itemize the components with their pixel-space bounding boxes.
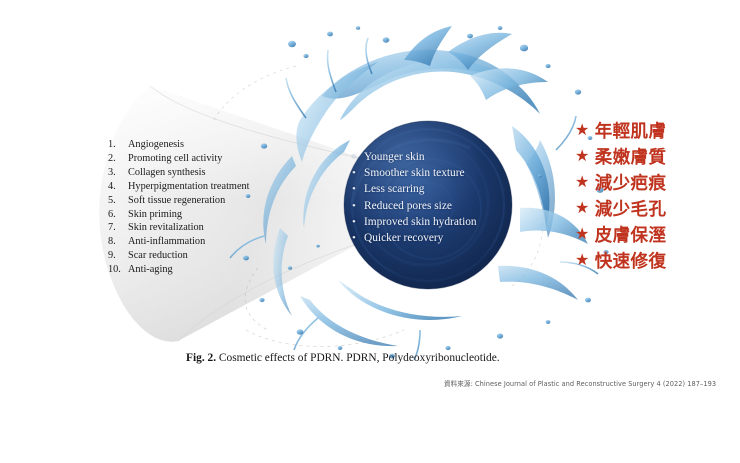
circle-benefits-list: • Younger skin • Smoother skin texture •… xyxy=(352,149,512,246)
list-item-label: 皮膚保溼 xyxy=(595,222,667,247)
list-item-number: 6. xyxy=(108,208,128,222)
list-item-label: 快速修復 xyxy=(595,248,667,273)
list-item-label: 年輕肌膚 xyxy=(595,118,667,143)
list-item-label: Anti-inflammation xyxy=(128,235,205,249)
list-item: ★ 減少疤痕 xyxy=(575,169,666,195)
star-icon: ★ xyxy=(575,252,590,268)
list-item-label: 柔嫩膚質 xyxy=(595,144,667,169)
star-icon: ★ xyxy=(575,148,590,164)
list-item-label: Reduced pores size xyxy=(364,198,452,214)
list-item: 9. Scar reduction xyxy=(108,249,323,263)
list-item-label: Soft tissue regeneration xyxy=(128,194,225,208)
list-item-label: Less scarring xyxy=(364,181,424,197)
list-item-label: Younger skin xyxy=(364,149,425,165)
list-item: • Less scarring xyxy=(352,181,512,197)
list-item: ★ 減少毛孔 xyxy=(575,195,666,221)
star-icon: ★ xyxy=(575,174,590,190)
bullet-icon: • xyxy=(352,198,364,214)
figure-canvas: 1. Angiogenesis 2. Promoting cell activi… xyxy=(0,0,740,463)
list-item: • Reduced pores size xyxy=(352,198,512,214)
list-item-label: 減少疤痕 xyxy=(595,170,667,195)
list-item-number: 7. xyxy=(108,221,128,235)
list-item-number: 4. xyxy=(108,180,128,194)
list-item-number: 2. xyxy=(108,152,128,166)
list-item-label: Scar reduction xyxy=(128,249,188,263)
list-item-number: 8. xyxy=(108,235,128,249)
list-item: 10. Anti-aging xyxy=(108,263,323,277)
funnel-effects-list: 1. Angiogenesis 2. Promoting cell activi… xyxy=(108,138,323,277)
list-item-label: Angiogenesis xyxy=(128,138,184,152)
list-item-label: Collagen synthesis xyxy=(128,166,206,180)
figure-caption: Fig. 2. Cosmetic effects of PDRN. PDRN, … xyxy=(186,352,500,364)
list-item: ★ 快速修復 xyxy=(575,247,666,273)
list-item-label: 減少毛孔 xyxy=(595,196,667,221)
list-item: • Smoother skin texture xyxy=(352,165,512,181)
list-item-number: 3. xyxy=(108,166,128,180)
list-item-number: 5. xyxy=(108,194,128,208)
list-item: 1. Angiogenesis xyxy=(108,138,323,152)
list-item: • Quicker recovery xyxy=(352,230,512,246)
list-item: • Improved skin hydration xyxy=(352,214,512,230)
list-item-label: Smoother skin texture xyxy=(364,165,465,181)
list-item-label: Quicker recovery xyxy=(364,230,443,246)
star-icon: ★ xyxy=(575,122,590,138)
list-item-label: Skin revitalization xyxy=(128,221,204,235)
star-icon: ★ xyxy=(575,226,590,242)
bullet-icon: • xyxy=(352,230,364,246)
list-item-label: Hyperpigmentation treatment xyxy=(128,180,250,194)
list-item: • Younger skin xyxy=(352,149,512,165)
source-citation: 資料來源: Chinese Journal of Plastic and Rec… xyxy=(444,378,716,388)
bullet-icon: • xyxy=(352,214,364,230)
bullet-icon: • xyxy=(352,181,364,197)
star-icon: ★ xyxy=(575,200,590,216)
list-item: 8. Anti-inflammation xyxy=(108,235,323,249)
list-item: 7. Skin revitalization xyxy=(108,221,323,235)
list-item: 5. Soft tissue regeneration xyxy=(108,194,323,208)
list-item-label: Promoting cell activity xyxy=(128,152,222,166)
list-item: 3. Collagen synthesis xyxy=(108,166,323,180)
list-item: 4. Hyperpigmentation treatment xyxy=(108,180,323,194)
list-item-number: 1. xyxy=(108,138,128,152)
list-item-number: 9. xyxy=(108,249,128,263)
figure-caption-label: Fig. 2. xyxy=(186,352,216,364)
list-item-label: Improved skin hydration xyxy=(364,214,477,230)
list-item: ★ 柔嫩膚質 xyxy=(575,143,666,169)
chinese-benefits-list: ★ 年輕肌膚 ★ 柔嫩膚質 ★ 減少疤痕 ★ 減少毛孔 ★ 皮膚保溼 ★ 快速修… xyxy=(575,117,666,273)
list-item-number: 10. xyxy=(108,263,128,277)
list-item-label: Anti-aging xyxy=(128,263,173,277)
list-item: 2. Promoting cell activity xyxy=(108,152,323,166)
list-item-label: Skin priming xyxy=(128,208,182,222)
list-item: ★ 皮膚保溼 xyxy=(575,221,666,247)
list-item: 6. Skin priming xyxy=(108,208,323,222)
list-item: ★ 年輕肌膚 xyxy=(575,117,666,143)
bullet-icon: • xyxy=(352,165,364,181)
figure-caption-text: Cosmetic effects of PDRN. PDRN, Polydeox… xyxy=(219,352,500,364)
bullet-icon: • xyxy=(352,149,364,165)
